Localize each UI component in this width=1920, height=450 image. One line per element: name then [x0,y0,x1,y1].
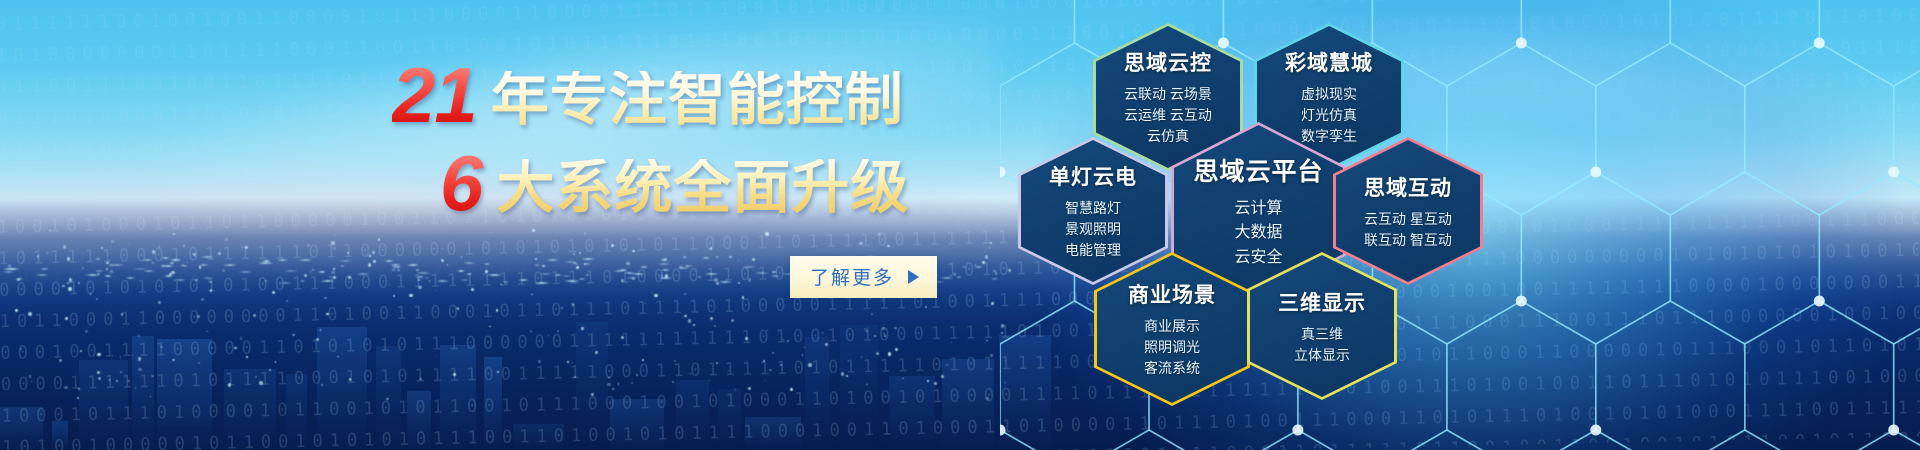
hex-title: 单灯云电 [1049,161,1137,191]
hex-card-siyu-interactive[interactable]: 思域互动 云互动 星互动联互动 智互动 [1333,137,1483,285]
hex-subtitle: 真三维立体显示 [1278,324,1366,365]
hex-subtitle: 云计算大数据云安全 [1193,197,1323,270]
hex-title: 三维显示 [1278,287,1366,317]
hexagon-cluster: 思域云控 云联动 云场景云运维 云互动云仿真 彩域慧城 虚拟现实灯光仿真数字孪生… [0,0,1920,450]
hex-text: 彩域慧城 虚拟现实灯光仿真数字孪生 [1277,47,1381,146]
hex-sub-line: 大数据 [1193,221,1323,245]
hex-text: 商业场景 商业展示照明调光客流系统 [1120,279,1224,378]
hex-sub-line: 立体显示 [1278,345,1366,366]
hex-sub-line: 真三维 [1278,324,1366,345]
hex-sub-line: 云计算 [1193,197,1323,221]
hex-sub-line: 客流系统 [1128,358,1216,379]
hex-sub-line: 灯光仿真 [1285,105,1373,126]
hex-subtitle: 云联动 云场景云运维 云互动云仿真 [1124,84,1212,146]
hex-text: 思域云平台 云计算大数据云安全 [1185,152,1331,270]
hex-sub-line: 商业展示 [1128,316,1216,337]
hex-sub-line: 虚拟现实 [1285,84,1373,105]
hex-sub-line: 云仿真 [1124,126,1212,147]
hex-sub-line: 景观照明 [1049,219,1137,240]
hex-title: 思域云平台 [1193,152,1323,188]
hex-sub-line: 电能管理 [1049,240,1137,261]
hex-title: 彩域慧城 [1285,47,1373,77]
hex-title: 思域云控 [1124,47,1212,77]
promo-banner: 0111111001001001100001011100001100001110… [0,0,1920,450]
hex-sub-line: 照明调光 [1128,337,1216,358]
hex-title: 思域互动 [1364,172,1452,202]
hex-subtitle: 虚拟现实灯光仿真数字孪生 [1285,84,1373,146]
hex-sub-line: 云运维 云互动 [1124,105,1212,126]
hex-subtitle: 智慧路灯景观照明电能管理 [1049,198,1137,260]
hex-text: 三维显示 真三维立体显示 [1270,287,1374,365]
hex-text: 思域互动 云互动 星互动联互动 智互动 [1356,172,1460,250]
hex-text: 单灯云电 智慧路灯景观照明电能管理 [1041,161,1145,260]
hex-sub-line: 云互动 星互动 [1364,209,1452,230]
hex-sub-line: 云联动 云场景 [1124,84,1212,105]
hex-sub-line: 智慧路灯 [1049,198,1137,219]
hex-title: 商业场景 [1128,279,1216,309]
hex-text: 思域云控 云联动 云场景云运维 云互动云仿真 [1116,47,1220,146]
hex-subtitle: 云互动 星互动联互动 智互动 [1364,209,1452,250]
hex-sub-line: 联互动 智互动 [1364,230,1452,251]
hex-subtitle: 商业展示照明调光客流系统 [1128,316,1216,378]
